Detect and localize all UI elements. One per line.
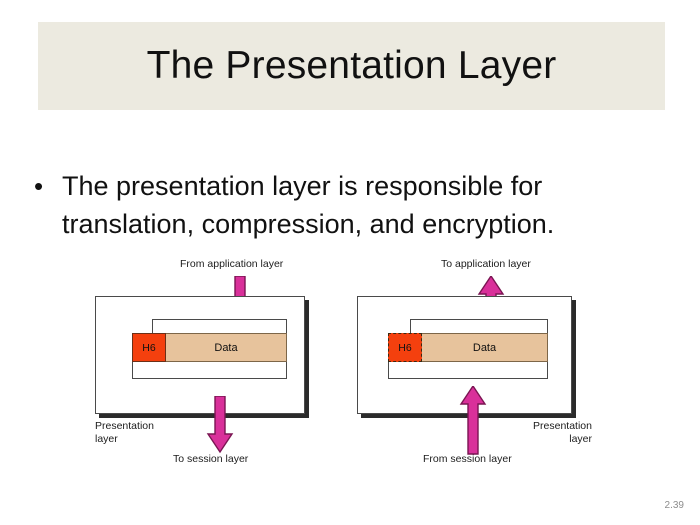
receiver-packet-header: H6 [388, 333, 422, 362]
receiver-bottom-bracket [388, 362, 548, 379]
bullet-list: • The presentation layer is responsible … [30, 167, 650, 243]
presentation-layer-diagram: From application layer H6 Data Presentat… [0, 258, 700, 483]
receiver-layer-caption-line2: layer [470, 433, 592, 446]
bullet-marker-icon: • [30, 167, 62, 205]
receiver-layer-caption: Presentation layer [470, 420, 592, 446]
receiver-top-caption: To application layer [441, 258, 531, 271]
page-title: The Presentation Layer [38, 44, 665, 88]
receiver-top-bracket [410, 319, 548, 333]
sender-layer-caption: Presentation layer [95, 420, 154, 446]
sender-layer-caption-line2: layer [95, 433, 154, 446]
receiver-layer-caption-line1: Presentation [470, 420, 592, 433]
receiver-packet-payload: Data [422, 333, 548, 362]
list-item: • The presentation layer is responsible … [30, 167, 650, 243]
page-number: 2.39 [665, 500, 684, 511]
sender-bottom-caption: To session layer [173, 453, 248, 466]
sender-layer-caption-line1: Presentation [95, 420, 154, 433]
arrow-down-out-of-sender [206, 396, 234, 454]
sender-packet-payload: Data [166, 333, 287, 362]
sender-bottom-bracket [132, 362, 287, 379]
receiver-bottom-caption: From session layer [423, 453, 512, 466]
sender-packet-header: H6 [132, 333, 166, 362]
sender-layer-box: H6 Data [95, 296, 305, 414]
sender-top-caption: From application layer [180, 258, 283, 271]
sender-packet: H6 Data [132, 333, 287, 362]
bullet-text: The presentation layer is responsible fo… [62, 167, 602, 243]
sender-top-bracket [152, 319, 287, 333]
title-band: The Presentation Layer [38, 22, 665, 110]
receiver-packet: H6 Data [388, 333, 548, 362]
